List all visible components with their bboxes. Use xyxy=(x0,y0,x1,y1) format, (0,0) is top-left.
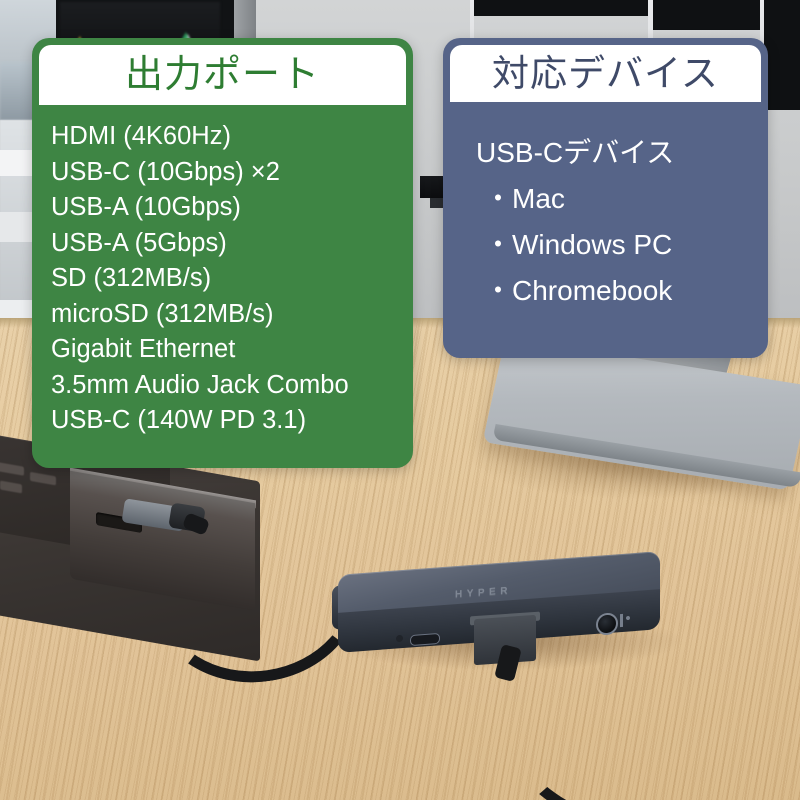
device-category-label: USB-Cデバイス xyxy=(476,130,761,176)
port-item: SD (312MB/s) xyxy=(51,261,406,297)
device-item: ・Chromebook xyxy=(476,268,761,314)
output-ports-list: HDMI (4K60Hz) USB-C (10Gbps) ×2 USB-A (1… xyxy=(39,105,406,439)
port-item: USB-C (140W PD 3.1) xyxy=(51,403,406,439)
port-item: Gigabit Ethernet xyxy=(51,332,406,368)
port-item: HDMI (4K60Hz) xyxy=(51,119,406,155)
port-item: 3.5mm Audio Jack Combo xyxy=(51,368,406,404)
output-ports-panel: 出力ポート HDMI (4K60Hz) USB-C (10Gbps) ×2 US… xyxy=(32,38,413,468)
background-screen xyxy=(653,0,760,30)
background-screen xyxy=(474,0,648,16)
port-item: microSD (312MB/s) xyxy=(51,297,406,333)
supported-devices-panel: 対応デバイス USB-Cデバイス ・Mac ・Windows PC ・Chrom… xyxy=(443,38,768,358)
background-screen xyxy=(764,0,800,110)
port-item: USB-C (10Gbps) ×2 xyxy=(51,155,406,191)
hub-audio-jack-marking xyxy=(620,614,623,627)
supported-devices-header: 対応デバイス xyxy=(450,45,761,102)
supported-devices-title: 対応デバイス xyxy=(492,55,719,92)
supported-devices-list: USB-Cデバイス ・Mac ・Windows PC ・Chromebook xyxy=(450,102,761,314)
device-item: ・Mac xyxy=(476,176,761,222)
product-feature-image: HYPER 出力ポート HDMI (4K60Hz) USB-C (10Gbps)… xyxy=(0,0,800,800)
output-ports-title: 出力ポート xyxy=(125,56,320,94)
device-item: ・Windows PC xyxy=(476,222,761,268)
hub-usb-c-port xyxy=(410,633,440,646)
port-item: USB-A (10Gbps) xyxy=(51,190,406,226)
port-item: USB-A (5Gbps) xyxy=(51,226,406,262)
output-ports-header: 出力ポート xyxy=(39,45,406,105)
